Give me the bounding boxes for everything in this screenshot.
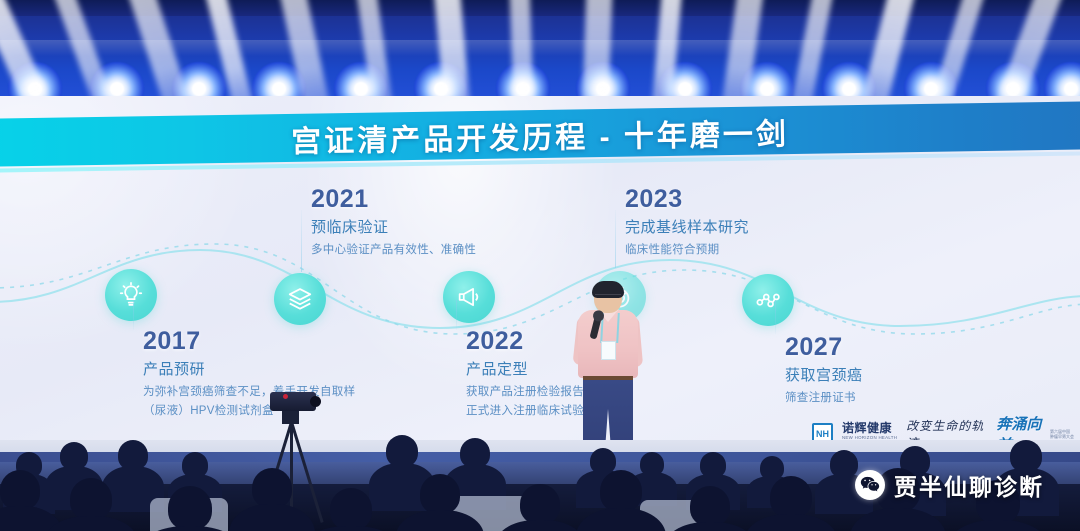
logo-initials: NH: [816, 430, 829, 439]
timeline-node-2017: [105, 269, 157, 321]
milestone-year: 2017: [143, 328, 355, 356]
timeline-tick-2027: [775, 300, 776, 334]
presenter-badge: [601, 341, 616, 360]
timeline-tick-2017: [133, 300, 134, 330]
camera-lens: [310, 396, 321, 407]
milestone-headline: 完成基线样本研究: [625, 218, 749, 238]
audience-head: [520, 484, 560, 524]
timeline-tick-2023: [615, 210, 616, 268]
milestone-year: 2021: [311, 186, 476, 214]
timeline-node-2021: [274, 273, 326, 325]
tripod-head: [282, 410, 299, 424]
milestone-headline: 产品预研: [143, 360, 355, 380]
stage-ceiling: [0, 0, 1080, 100]
milestone-2023: 2023完成基线样本研究临床性能符合预期: [625, 186, 749, 260]
timeline-node-2022: [443, 271, 495, 323]
milestone-year: 2023: [625, 186, 749, 214]
watermark-account-name: 贾半仙聊诊断: [894, 468, 1044, 502]
timeline-tick-2022: [456, 300, 457, 330]
event-sub-line2: 肿瘤早筛大会: [1050, 434, 1074, 439]
audience-head: [168, 486, 212, 530]
milestone-2021: 2021预临床验证多中心验证产品有效性、准确性: [311, 186, 476, 260]
audience-head: [330, 488, 372, 530]
audience-head: [70, 478, 112, 520]
camera-record-light: [283, 394, 288, 399]
presenter-trousers: [583, 380, 633, 443]
timeline-node-2027: [742, 274, 794, 326]
milestone-detail-line1: 临床性能符合预期: [625, 242, 749, 260]
layers-icon: [286, 285, 314, 313]
audience-head: [252, 468, 292, 508]
lightbulb-icon: [117, 281, 145, 309]
milestone-headline: 预临床验证: [311, 218, 476, 238]
audience-head: [770, 476, 812, 518]
wechat-icon: [855, 470, 885, 500]
slide-title-text: 宫证清产品开发历程 - 十年磨一剑: [291, 109, 789, 161]
event-subtitle: 第六届中国 肿瘤早筛大会: [1050, 429, 1074, 439]
milestone-detail-line1: 筛查注册证书: [785, 390, 863, 408]
presenter-glasses: [595, 294, 621, 301]
light-beam: [581, 0, 613, 100]
milestone-headline: 获取宫颈癌: [785, 366, 863, 386]
timeline-tick-2021: [301, 210, 302, 272]
audience-head: [690, 486, 730, 526]
audience-head: [0, 470, 40, 510]
network-icon: [754, 286, 782, 314]
milestone-year: 2027: [785, 334, 863, 362]
milestone-detail-line1: 多中心验证产品有效性、准确性: [311, 242, 476, 260]
wechat-watermark: 贾半仙聊诊断: [855, 468, 1044, 502]
milestone-2027: 2027获取宫颈癌筛查注册证书: [785, 334, 863, 408]
audience-head: [420, 474, 460, 514]
audience-head: [600, 470, 642, 512]
megaphone-icon: [455, 283, 483, 311]
presenter: [575, 283, 641, 443]
ceiling-truss: [0, 0, 1080, 16]
stage-light: [1044, 62, 1080, 100]
company-name-cn: 诺辉健康: [842, 422, 897, 435]
wechat-glyph: [859, 474, 881, 496]
conference-photo: 宫证清产品开发历程 - 十年磨一剑 2017产品预研为弥补宫颈癌筛查不足，着手开…: [0, 0, 1080, 531]
